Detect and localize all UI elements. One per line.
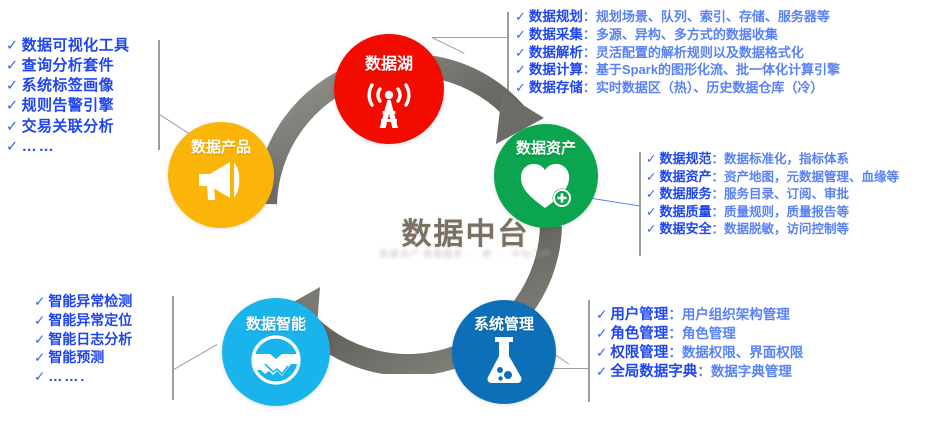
list-item: ✓智能异常检测: [34, 292, 132, 311]
check-icon: ✓: [646, 187, 656, 201]
list-item-title: 规则告警引擎: [22, 97, 114, 114]
list-item: ✓数据质量：质量规则，质量报告等: [646, 203, 899, 221]
list-item-title: 交易关联分析: [22, 118, 114, 135]
check-icon: ✓: [34, 369, 45, 384]
connector-diagonal-lake: [432, 37, 465, 54]
list-item: ✓交易关联分析: [6, 117, 129, 137]
list-item-description: 质量规则，质量报告等: [724, 205, 849, 219]
check-icon: ✓: [646, 170, 656, 184]
list-item: ✓数据服务：服务目录、订阅、审批: [646, 185, 899, 203]
list-item-separator: ：: [583, 9, 596, 24]
list-item-description: 用户组织架构管理: [682, 307, 790, 322]
diagram-canvas: 数据中台 数据资产 数据服务 ··· 统 ··· 中台门户 数据产品 数据湖: [0, 0, 931, 428]
list-item-title: 数据可视化工具: [22, 37, 130, 54]
list-item-title: 智能异常检测: [48, 293, 132, 309]
check-icon: ✓: [596, 307, 607, 322]
list-item: ✓查询分析套件: [6, 56, 129, 76]
check-icon: ✓: [34, 332, 45, 347]
list-item-title: 智能异常定位: [48, 312, 132, 328]
list-item-separator: ：: [712, 205, 725, 219]
check-icon: ✓: [646, 152, 656, 166]
list-item-description: 基于Spark的图形化流、批一体化计算引擎: [596, 62, 840, 77]
check-icon: ✓: [515, 27, 526, 42]
check-icon: ✓: [6, 78, 19, 94]
list-item: ✓智能日志分析: [34, 330, 132, 349]
connector-line-lake: [432, 37, 508, 38]
list-item-title: 数据规划: [529, 9, 583, 24]
list-item-title: 用户管理: [610, 307, 668, 323]
megaphone-icon: [194, 157, 248, 208]
node-data-lake[interactable]: 数据湖: [334, 34, 444, 144]
list-item: ✓……: [6, 137, 129, 157]
list-item-title: 查询分析套件: [22, 57, 114, 74]
list-item-description: 数据脱敏，访问控制等: [724, 222, 849, 236]
list-item-separator: ：: [668, 326, 682, 341]
list-item-description: 资产地图，元数据管理、血缘等: [724, 170, 899, 184]
list-item-title: 全局数据字典: [610, 364, 697, 380]
list-item-title: 数据资产: [659, 169, 711, 184]
list-item-title: 角色管理: [610, 326, 668, 342]
connector-rule-products: [158, 40, 160, 150]
list-item-title: 权限管理: [610, 345, 668, 361]
list-data-lake: ✓数据规划：规划场景、队列、索引、存储、服务器等✓数据采集：多源、异构、多方式的…: [515, 8, 840, 97]
list-item: ✓智能异常定位: [34, 311, 132, 330]
list-item-description: 规划场景、队列、索引、存储、服务器等: [596, 9, 830, 24]
list-system-management: ✓用户管理：用户组织架构管理✓角色管理：角色管理✓权限管理：数据权限、界面权限✓…: [596, 306, 803, 383]
list-item-description: 实时数据区（热）、历史数据仓库（冷）: [596, 80, 824, 95]
list-item-separator: ：: [668, 307, 682, 322]
list-item: ✓数据计算：基于Spark的图形化流、批一体化计算引擎: [515, 61, 840, 79]
heart-plus-icon: [517, 158, 575, 215]
list-item-title: 数据计算: [529, 62, 583, 77]
list-data-products: ✓数据可视化工具✓查询分析套件✓系统标签画像✓规则告警引擎✓交易关联分析✓……: [6, 36, 129, 157]
check-icon: ✓: [34, 294, 45, 309]
list-data-asset: ✓数据规范：数据标准化，指标体系✓数据资产：资产地图，元数据管理、血缘等✓数据服…: [646, 150, 899, 238]
check-icon: ✓: [646, 205, 656, 219]
list-item: ✓数据规范：数据标准化，指标体系: [646, 150, 899, 168]
check-icon: ✓: [6, 58, 19, 74]
check-icon: ✓: [515, 45, 526, 60]
list-item: ✓数据存储：实时数据区（热）、历史数据仓库（冷）: [515, 79, 840, 97]
check-icon: ✓: [596, 345, 607, 360]
list-item-description: 多源、异构、多方式的数据收集: [596, 27, 778, 42]
check-icon: ✓: [515, 9, 526, 24]
check-icon: ✓: [6, 119, 19, 135]
list-item-separator: ：: [583, 45, 596, 60]
list-item: ✓智能预测: [34, 348, 132, 367]
list-item-description: 灵活配置的解析规则以及数据格式化: [596, 45, 804, 60]
list-item-title: ……: [22, 138, 56, 155]
list-item-separator: ：: [583, 27, 596, 42]
list-item-separator: ：: [583, 80, 596, 95]
node-data-product[interactable]: 数据产品: [168, 122, 274, 228]
list-item-separator: ：: [712, 222, 725, 236]
list-item-title: …….: [48, 368, 86, 384]
list-item: ✓权限管理：数据权限、界面权限: [596, 344, 803, 363]
list-item-separator: ：: [712, 187, 725, 201]
check-icon: ✓: [6, 38, 19, 54]
list-item: ✓用户管理：用户组织架构管理: [596, 306, 803, 325]
node-data-asset[interactable]: 数据资产: [494, 124, 598, 228]
check-icon: ✓: [646, 222, 656, 236]
list-item: ✓数据可视化工具: [6, 36, 129, 56]
flask-icon: [480, 334, 528, 391]
list-item-title: 数据规范: [659, 151, 711, 166]
list-item: ✓全局数据字典：数据字典管理: [596, 363, 803, 382]
list-item-separator: ：: [668, 345, 682, 360]
list-item: ✓数据规划：规划场景、队列、索引、存储、服务器等: [515, 8, 840, 26]
list-item-description: 数据权限、界面权限: [682, 345, 804, 360]
node-label-data-asset: 数据资产: [516, 137, 576, 158]
node-label-data-product: 数据产品: [191, 136, 251, 157]
list-item-description: 服务目录、订阅、审批: [724, 187, 849, 201]
check-icon: ✓: [6, 98, 19, 114]
list-item-title: 系统标签画像: [22, 77, 114, 94]
list-item-title: 数据安全: [659, 221, 711, 236]
handshake-icon: [247, 334, 305, 391]
list-item: ✓规则告警引擎: [6, 96, 129, 116]
check-icon: ✓: [515, 80, 526, 95]
center-subtitle: 数据资产 数据服务 ··· 统 ··· 中台门户: [0, 247, 931, 260]
list-item-title: 智能预测: [48, 349, 104, 365]
list-item: ✓角色管理：角色管理: [596, 325, 803, 344]
connector-rule-intelligence: [172, 296, 174, 400]
check-icon: ✓: [515, 62, 526, 77]
check-icon: ✓: [6, 139, 19, 155]
list-item: ✓数据安全：数据脱敏，访问控制等: [646, 220, 899, 238]
check-icon: ✓: [596, 326, 607, 341]
node-data-intelligence[interactable]: 数据智能: [222, 298, 330, 406]
list-data-intelligence: ✓智能异常检测✓智能异常定位✓智能日志分析✓智能预测✓…….: [34, 292, 132, 386]
connector-rule-system: [588, 300, 590, 402]
node-label-system-management: 系统管理: [474, 313, 534, 334]
list-item: ✓数据资产：资产地图，元数据管理、血缘等: [646, 168, 899, 186]
list-item: ✓数据解析：灵活配置的解析规则以及数据格式化: [515, 44, 840, 62]
list-item-title: 数据存储: [529, 80, 583, 95]
list-item-separator: ：: [697, 364, 711, 379]
list-item: ✓…….: [34, 367, 132, 386]
list-item-title: 数据服务: [659, 186, 711, 201]
list-item: ✓系统标签画像: [6, 76, 129, 96]
check-icon: ✓: [34, 313, 45, 328]
list-item: ✓数据采集：多源、异构、多方式的数据收集: [515, 26, 840, 44]
list-item-separator: ：: [712, 152, 725, 166]
list-item-description: 数据标准化，指标体系: [724, 152, 849, 166]
list-item-separator: ：: [712, 170, 725, 184]
node-system-management[interactable]: 系统管理: [452, 300, 556, 404]
list-item-title: 数据解析: [529, 45, 583, 60]
list-item-title: 数据质量: [659, 204, 711, 219]
check-icon: ✓: [34, 350, 45, 365]
check-icon: ✓: [596, 364, 607, 379]
list-item-description: 数据字典管理: [711, 364, 792, 379]
node-label-data-intelligence: 数据智能: [246, 313, 306, 334]
node-label-data-lake: 数据湖: [365, 50, 413, 74]
broadcast-tower-icon: [359, 74, 419, 137]
list-item-separator: ：: [583, 62, 596, 77]
list-item-title: 智能日志分析: [48, 331, 132, 347]
list-item-title: 数据采集: [529, 27, 583, 42]
list-item-description: 角色管理: [682, 326, 736, 341]
connector-diagonal-intelligence: [172, 344, 218, 371]
